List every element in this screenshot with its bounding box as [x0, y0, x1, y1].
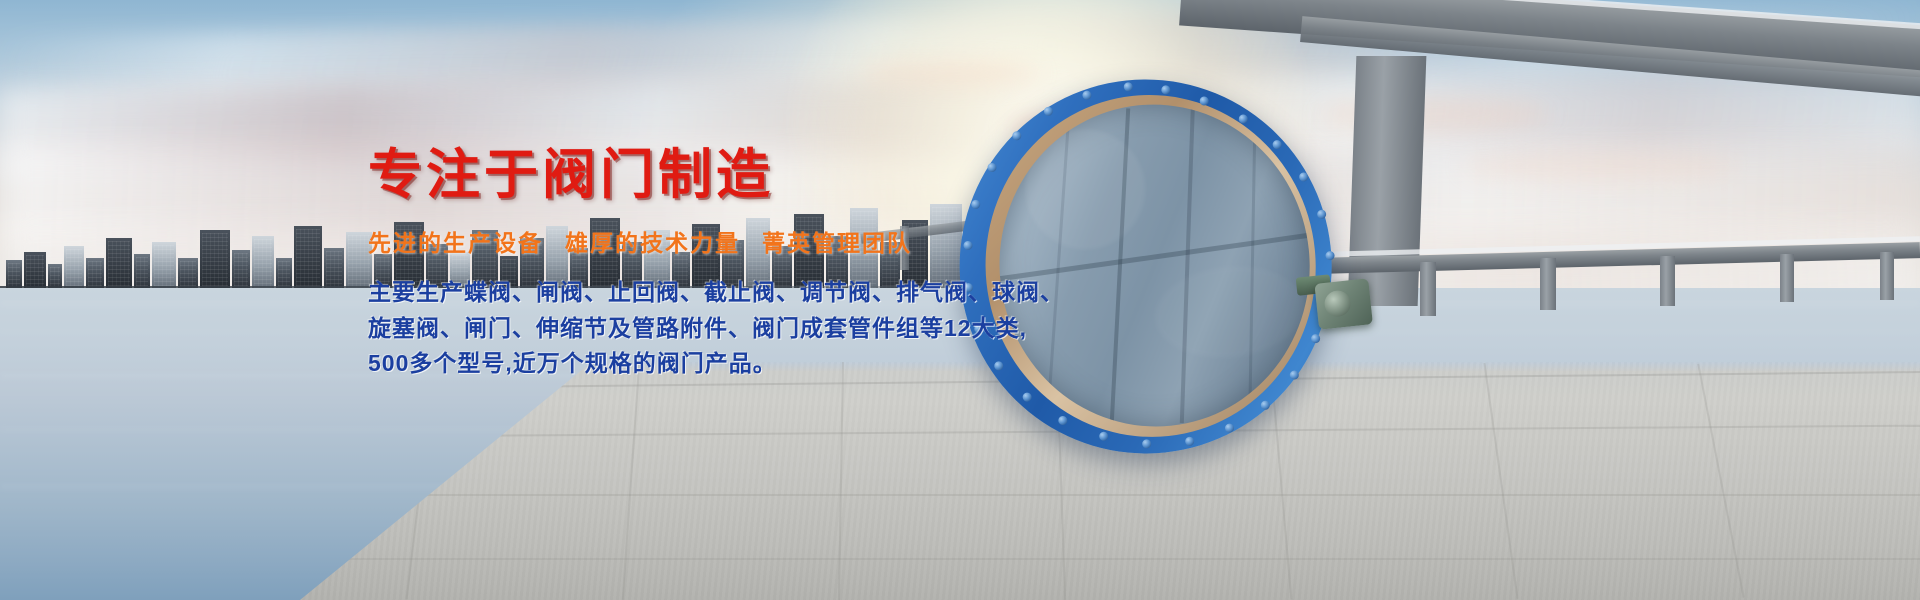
- hero-banner: 专注于阀门制造 先进的生产设备雄厚的技术力量菁英管理团队 主要生产蝶阀、闸阀、止…: [0, 0, 1920, 600]
- description-line-1: 主要生产蝶阀、闸阀、止回阀、截止阀、调节阀、排气阀、球阀、: [368, 275, 968, 311]
- page-title: 专注于阀门制造: [368, 148, 968, 202]
- viaduct-pier-4: [1780, 254, 1794, 302]
- description-line-3: 500多个型号,近万个规格的阀门产品。: [368, 346, 968, 382]
- subtitle-part-3: 菁英管理团队: [762, 230, 912, 256]
- description-line-2: 旋塞阀、闸门、伸缩节及管路附件、阀门成套管件组等12大类,: [368, 311, 968, 347]
- subtitle-part-2: 雄厚的技术力量: [565, 230, 740, 256]
- warm-cloud-5: [860, 60, 1040, 86]
- banner-description: 主要生产蝶阀、闸阀、止回阀、截止阀、调节阀、排气阀、球阀、 旋塞阀、闸门、伸缩节…: [368, 275, 968, 382]
- viaduct-pier-2: [1540, 258, 1556, 310]
- valve-gearbox-actuator: [1314, 278, 1373, 329]
- viaduct-pier-1: [1420, 262, 1436, 316]
- viaduct-pier-5: [1880, 252, 1894, 300]
- subtitle-part-1: 先进的生产设备: [368, 230, 543, 256]
- butterfly-valve: [941, 58, 1379, 480]
- banner-copy: 专注于阀门制造 先进的生产设备雄厚的技术力量菁英管理团队 主要生产蝶阀、闸阀、止…: [368, 148, 968, 382]
- viaduct-pier-3: [1660, 256, 1675, 306]
- warm-cloud-4: [1460, 150, 1740, 182]
- banner-subtitle: 先进的生产设备雄厚的技术力量菁英管理团队: [368, 232, 968, 255]
